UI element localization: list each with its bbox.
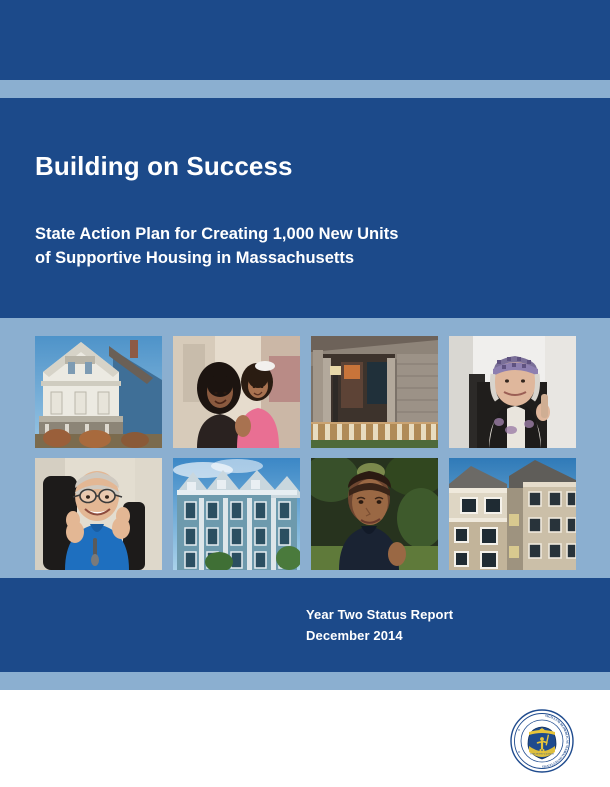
page-subtitle-line-2: of Supportive Housing in Massachusetts [35, 247, 495, 271]
report-cover-page: Building on Success State Action Plan fo… [0, 0, 610, 787]
massachusetts-state-seal: SIGILLUM REIPUBLICAE MASSACHUSETTENSIS [509, 708, 575, 774]
photo-blue-multifamily-building [173, 458, 300, 570]
photo-man-in-wheelchair [35, 458, 162, 570]
mother-and-child-image [173, 336, 300, 448]
photo-home-porch-entry [311, 336, 438, 448]
blue-multifamily-building-image [173, 458, 300, 570]
state-seal-icon: SIGILLUM REIPUBLICAE MASSACHUSETTENSIS [509, 708, 575, 774]
elderly-woman-image [449, 336, 576, 448]
cover-photo-grid [35, 336, 576, 570]
top-light-accent-band [0, 80, 610, 98]
photo-victorian-house-exterior [35, 336, 162, 448]
page-subtitle-line-1: State Action Plan for Creating 1,000 New… [35, 223, 495, 247]
bottom-light-accent-band [0, 672, 610, 690]
young-woman-outdoors-image [311, 458, 438, 570]
report-date: December 2014 [306, 625, 566, 646]
photo-young-woman-outdoors [311, 458, 438, 570]
page-subtitle: State Action Plan for Creating 1,000 New… [35, 223, 495, 271]
photo-elderly-woman-portrait [449, 336, 576, 448]
report-label: Year Two Status Report [306, 604, 566, 625]
victorian-house-image [35, 336, 162, 448]
title-block: Building on Success State Action Plan fo… [35, 152, 495, 270]
photo-mother-and-child [173, 336, 300, 448]
photo-apartment-building-exterior [449, 458, 576, 570]
report-info-block: Year Two Status Report December 2014 [306, 604, 566, 646]
man-in-wheelchair-image [35, 458, 162, 570]
svg-text:ENSE PETIT PLACIDAM: ENSE PETIT PLACIDAM [530, 753, 554, 756]
top-dark-band [0, 0, 610, 80]
apartment-building-image [449, 458, 576, 570]
page-title: Building on Success [35, 152, 495, 181]
home-porch-entry-image [311, 336, 438, 448]
